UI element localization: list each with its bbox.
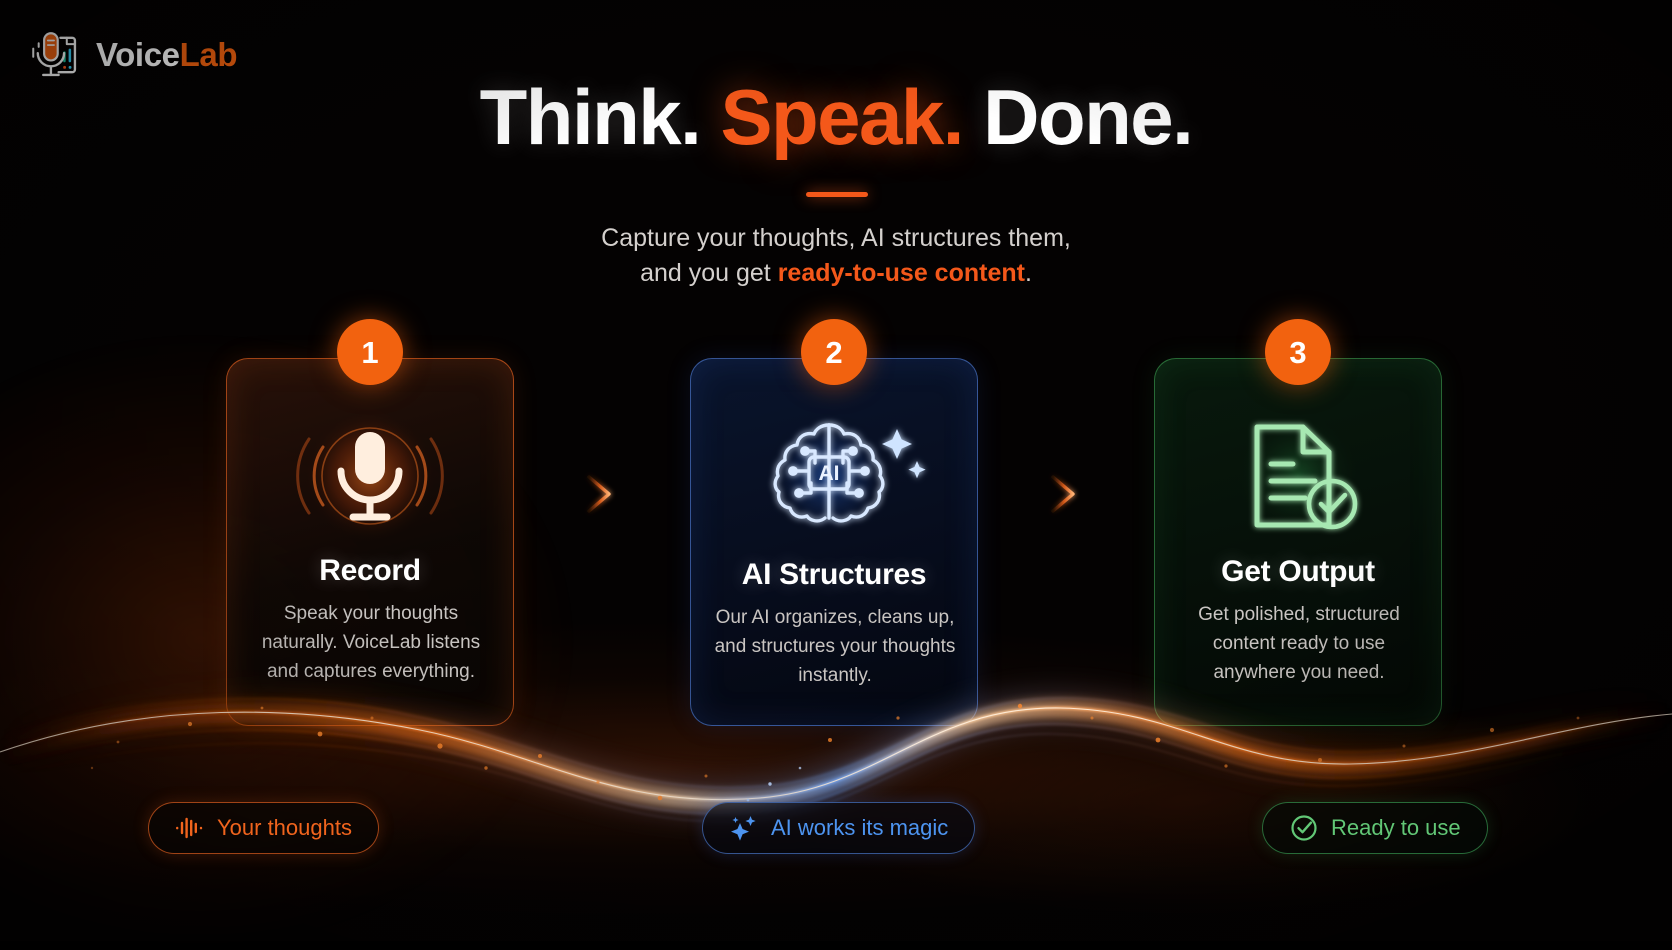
step-badge-2: 2 bbox=[801, 319, 867, 385]
vignette-overlay bbox=[0, 0, 1672, 941]
sparkles-icon bbox=[729, 814, 759, 842]
status-pill-label: AI works its magic bbox=[771, 817, 948, 839]
status-pill-ai-magic[interactable]: AI works its magic bbox=[702, 802, 975, 854]
check-circle-icon bbox=[1289, 813, 1319, 843]
status-pill-label: Ready to use bbox=[1331, 817, 1461, 839]
step-badge-3: 3 bbox=[1265, 319, 1331, 385]
waveform-icon bbox=[175, 815, 205, 841]
step-badge-1: 1 bbox=[337, 319, 403, 385]
status-pill-label: Your thoughts bbox=[217, 817, 352, 839]
status-pill-ready-to-use[interactable]: Ready to use bbox=[1262, 802, 1488, 854]
status-pill-your-thoughts[interactable]: Your thoughts bbox=[148, 802, 379, 854]
